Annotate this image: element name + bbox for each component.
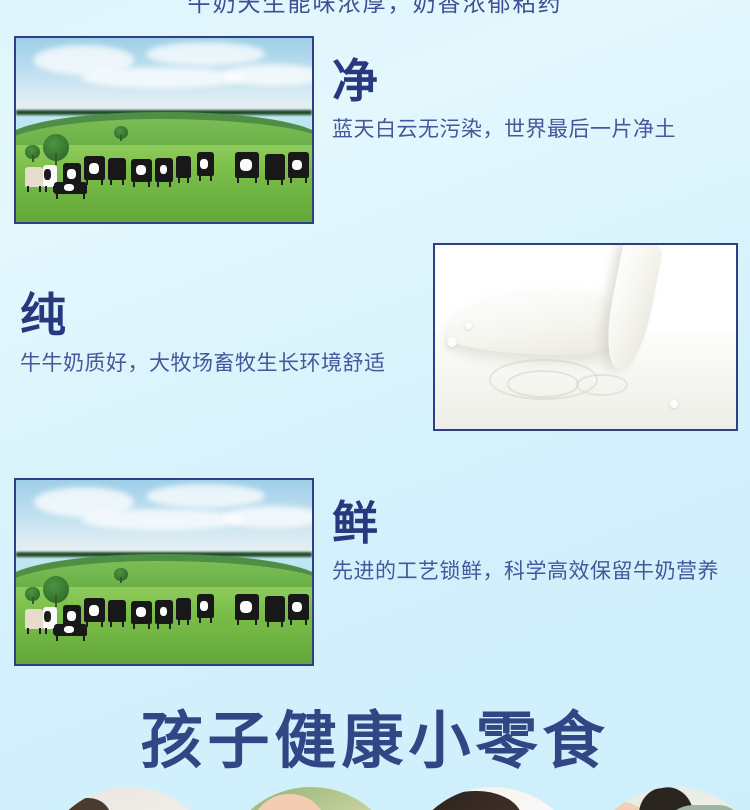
cow-shape bbox=[197, 594, 215, 618]
cow-shape bbox=[265, 596, 286, 622]
milk-ripple bbox=[507, 370, 579, 398]
cow-shape bbox=[176, 598, 191, 620]
milk-pouring-photo bbox=[433, 243, 738, 431]
feature-block-xian: 鲜 先进的工艺锁鲜，科学高效保留牛奶营养 bbox=[332, 500, 750, 588]
product-detail-page: 牛奶天生能味浓厚，奶香浓郁粘药 净 蓝天白云无污染，世界最后一片净土 纯 bbox=[0, 0, 750, 810]
circle-photo-4 bbox=[584, 787, 750, 810]
feature-char-chun: 纯 bbox=[20, 292, 440, 338]
top-clipped-headline: 牛奶天生能味浓厚，奶香浓郁粘药 bbox=[0, 0, 750, 18]
cloud-shape bbox=[81, 67, 244, 87]
cow-shape bbox=[108, 158, 126, 180]
cow-shape bbox=[235, 594, 259, 620]
feature-desc-jing: 蓝天白云无污染，世界最后一片净土 bbox=[332, 114, 750, 146]
cow-shape bbox=[288, 594, 309, 620]
circle-photo-3 bbox=[402, 787, 584, 810]
tree-shape bbox=[25, 587, 40, 602]
circle-photo-1 bbox=[38, 787, 220, 810]
cow-shape bbox=[84, 598, 105, 622]
cow-shape bbox=[235, 152, 259, 178]
cow-shape bbox=[197, 152, 215, 176]
cow-shape bbox=[131, 601, 152, 623]
pasture-with-cows-photo bbox=[14, 36, 314, 224]
milk-ripple bbox=[576, 374, 627, 396]
cow-shape bbox=[176, 156, 191, 178]
feature-block-chun: 纯 牛牛奶质好，大牧场畜牧生长环境舒适 bbox=[20, 292, 440, 380]
cloud-shape bbox=[146, 484, 264, 508]
cow-shape bbox=[108, 600, 126, 622]
cow-shape-lying bbox=[54, 182, 87, 195]
cow-shape-lying bbox=[54, 624, 87, 637]
cow-shape bbox=[25, 609, 43, 629]
pasture-with-cows-photo-2 bbox=[14, 478, 314, 666]
milk-crown-splash bbox=[447, 293, 628, 356]
feature-char-xian: 鲜 bbox=[332, 500, 750, 546]
cow-shape bbox=[288, 152, 309, 178]
feature-char-jing: 净 bbox=[332, 58, 750, 104]
milk-droplet bbox=[447, 337, 457, 347]
cow-shape bbox=[84, 156, 105, 180]
bottom-circle-photo-row bbox=[0, 787, 750, 810]
cloud-shape bbox=[223, 506, 314, 528]
cloud-shape bbox=[146, 42, 264, 66]
milk-droplet bbox=[670, 400, 678, 408]
section-title-kids-snack: 孩子健康小零食 bbox=[0, 711, 750, 773]
cow-shape bbox=[155, 158, 173, 182]
cow-shape bbox=[25, 167, 43, 187]
feature-desc-chun: 牛牛奶质好，大牧场畜牧生长环境舒适 bbox=[20, 348, 420, 380]
cow-shape bbox=[155, 600, 173, 624]
cow-shape bbox=[131, 159, 152, 181]
feature-block-jing: 净 蓝天白云无污染，世界最后一片净土 bbox=[332, 58, 750, 146]
cloud-shape bbox=[223, 64, 314, 86]
cloud-shape bbox=[81, 509, 244, 529]
feature-desc-xian: 先进的工艺锁鲜，科学高效保留牛奶营养 bbox=[332, 556, 750, 588]
circle-photo-2 bbox=[220, 787, 402, 810]
cow-shape bbox=[265, 154, 286, 180]
tree-shape bbox=[25, 145, 40, 160]
